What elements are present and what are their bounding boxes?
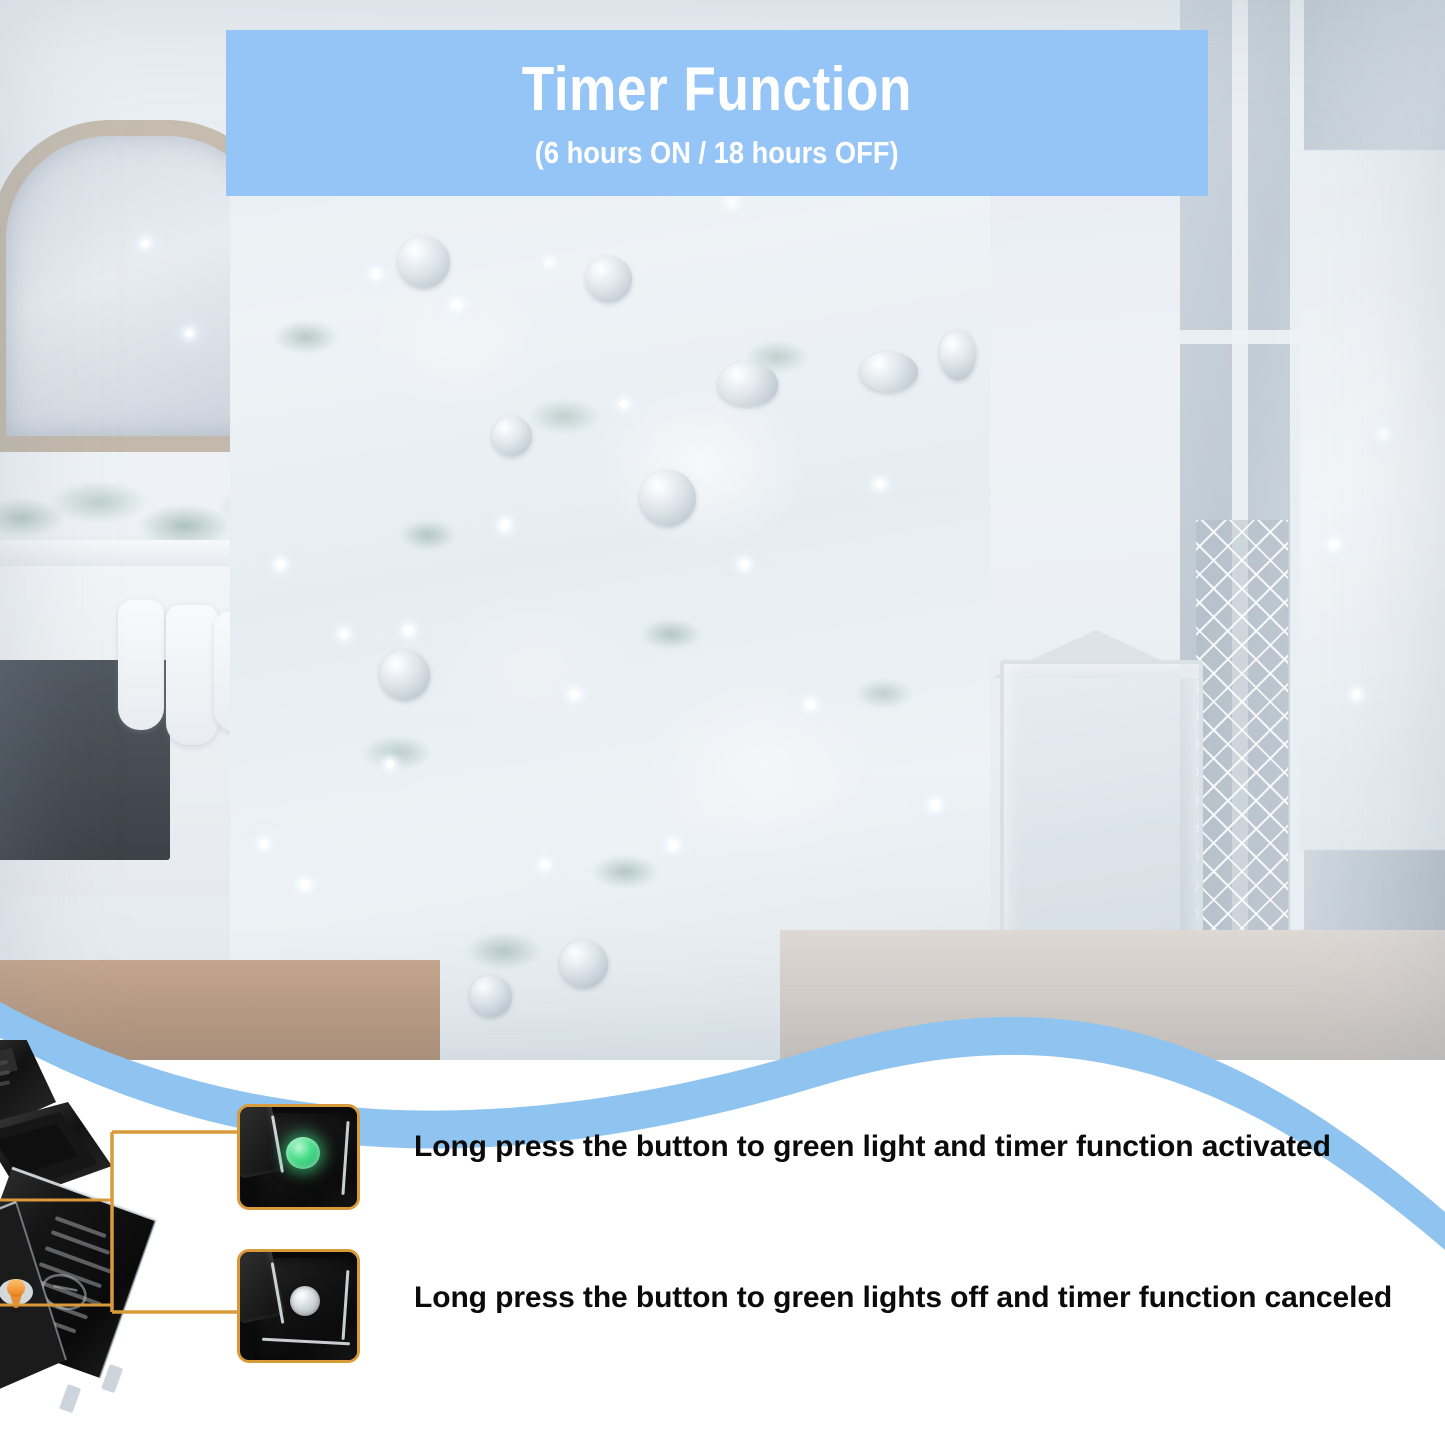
callout-box-2-image <box>240 1252 357 1360</box>
callout-connector-lines <box>0 1040 420 1440</box>
callout-box-timer-on <box>237 1104 360 1210</box>
timer-button-green-lit[interactable] <box>286 1137 320 1169</box>
infographic-root: Timer Function (6 hours ON / 18 hours OF… <box>0 0 1445 1440</box>
caption-timer-off: Long press the button to green lights of… <box>414 1281 1392 1315</box>
callout-box-1-image <box>240 1107 357 1207</box>
banner-title: Timer Function <box>522 59 912 121</box>
timer-button-unlit[interactable] <box>290 1286 320 1316</box>
callout-box-timer-off <box>237 1249 360 1363</box>
header-banner: Timer Function (6 hours ON / 18 hours OF… <box>226 30 1208 196</box>
banner-subtitle: (6 hours ON / 18 hours OFF) <box>535 137 899 168</box>
caption-timer-on: Long press the button to green light and… <box>414 1130 1331 1164</box>
